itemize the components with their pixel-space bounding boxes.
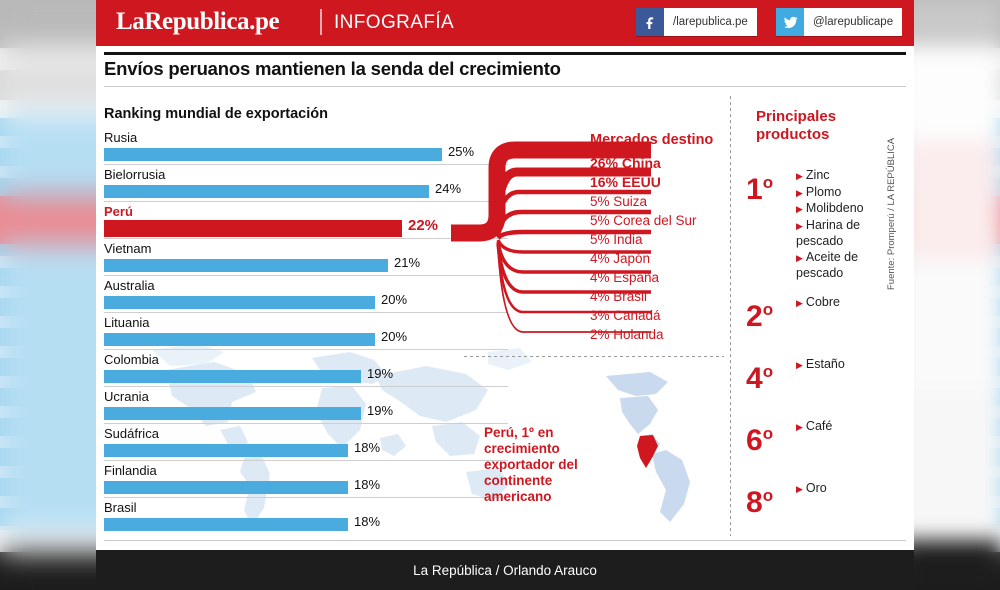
site-header: LaRepublica.pe INFOGRAFÍA /larepublica.p… xyxy=(96,0,914,46)
product-rank: 8o xyxy=(746,481,773,518)
rank-ordinal: o xyxy=(763,424,773,443)
ranking-value: 18% xyxy=(354,477,380,492)
country-label: Vietnam xyxy=(104,241,151,256)
product-label: Estaño xyxy=(806,357,845,371)
market-item: 26% China xyxy=(590,154,820,173)
ranking-row: Finlandia18% xyxy=(96,463,516,500)
row-divider xyxy=(104,201,508,202)
row-divider xyxy=(104,238,508,239)
market-item: 3% Canadá xyxy=(590,306,820,325)
ranking-bar xyxy=(104,296,375,309)
country-label: Finlandia xyxy=(104,463,157,478)
ranking-value: 21% xyxy=(394,255,420,270)
bullet-arrow-icon: ▶ xyxy=(796,221,803,231)
ranking-bar xyxy=(104,259,388,272)
product-rank: 2o xyxy=(746,295,773,332)
americas-map xyxy=(596,372,726,527)
page-title: Envíos peruanos mantienen la senda del c… xyxy=(104,58,784,80)
ranking-heading: Ranking mundial de exportación xyxy=(104,106,328,122)
vertical-dotted-divider xyxy=(730,96,731,536)
product-item: ▶Estaño xyxy=(796,357,901,374)
country-label: Sudáfrica xyxy=(104,426,159,441)
bullet-arrow-icon: ▶ xyxy=(796,253,803,263)
row-divider xyxy=(104,164,508,165)
bullet-arrow-icon: ▶ xyxy=(796,360,803,370)
row-divider xyxy=(104,312,508,313)
rank-number: 4 xyxy=(746,362,763,395)
bullet-arrow-icon: ▶ xyxy=(796,188,803,198)
product-label: Cobre xyxy=(806,295,840,309)
row-divider xyxy=(104,349,508,350)
footer-credit: La República / Orlando Arauco xyxy=(96,550,914,590)
twitter-icon xyxy=(776,8,804,36)
rank-number: 1 xyxy=(746,173,763,206)
markets-list: 26% China16% EEUU5% Suiza5% Corea del Su… xyxy=(590,154,820,344)
facebook-button[interactable]: /larepublica.pe xyxy=(636,8,757,36)
product-items: ▶Estaño xyxy=(796,357,901,374)
ranking-value: 18% xyxy=(354,440,380,455)
bullet-arrow-icon: ▶ xyxy=(796,204,803,214)
product-rank: 6o xyxy=(746,419,773,456)
row-divider xyxy=(104,497,508,498)
bullet-arrow-icon: ▶ xyxy=(796,484,803,494)
bullet-arrow-icon: ▶ xyxy=(796,298,803,308)
row-divider xyxy=(104,386,508,387)
bullet-arrow-icon: ▶ xyxy=(796,422,803,432)
ranking-bar xyxy=(104,333,375,346)
product-items: ▶Oro xyxy=(796,481,901,498)
ranking-bar xyxy=(104,185,429,198)
country-label: Lituania xyxy=(104,315,150,330)
twitter-handle: @larepublicape xyxy=(804,8,902,36)
ranking-bar xyxy=(104,407,361,420)
product-label: Plomo xyxy=(806,185,841,199)
row-divider xyxy=(104,460,508,461)
ranking-value: 20% xyxy=(381,329,407,344)
product-rank: 4o xyxy=(746,357,773,394)
section-label: INFOGRAFÍA xyxy=(334,12,454,34)
ranking-value: 18% xyxy=(354,514,380,529)
map-caption: Perú, 1º en crecimiento exportador del c… xyxy=(484,425,594,505)
country-label: Brasil xyxy=(104,500,137,515)
row-divider xyxy=(104,275,508,276)
ranking-value: 19% xyxy=(367,366,393,381)
product-items: ▶Cobre xyxy=(796,295,901,312)
market-item: 5% Corea del Sur xyxy=(590,211,820,230)
product-item: ▶Cobre xyxy=(796,295,901,312)
facebook-icon xyxy=(636,8,664,36)
market-item: 4% España xyxy=(590,268,820,287)
product-item: ▶Café xyxy=(796,419,901,436)
product-label: Zinc xyxy=(806,168,830,182)
country-label: Rusia xyxy=(104,130,137,145)
rank-ordinal: o xyxy=(763,486,773,505)
country-label: Colombia xyxy=(104,352,159,367)
ranking-bar xyxy=(104,444,348,457)
product-label: Oro xyxy=(806,481,827,495)
product-items: ▶Café xyxy=(796,419,901,436)
footer-rule xyxy=(104,540,906,541)
header-divider xyxy=(320,9,322,35)
product-label: Café xyxy=(806,419,832,433)
ranking-row: Ucrania19% xyxy=(96,389,516,426)
market-item: 4% Japón xyxy=(590,249,820,268)
ranking-bar xyxy=(104,370,361,383)
horizontal-dotted-divider xyxy=(464,356,724,357)
product-label: Molibdeno xyxy=(806,201,864,215)
ranking-bar xyxy=(104,518,348,531)
market-item: 5% India xyxy=(590,230,820,249)
rank-ordinal: o xyxy=(763,173,773,192)
ranking-bar xyxy=(104,220,402,237)
source-note: Fuente: Promperú / LA REPÚBLICA xyxy=(886,138,897,290)
title-rule-top xyxy=(104,52,906,55)
product-label: Harina de pescado xyxy=(796,218,860,249)
market-item: 16% EEUU xyxy=(590,173,820,192)
markets-heading: Mercados destino xyxy=(590,132,713,148)
rank-number: 2 xyxy=(746,300,763,333)
ranking-bar xyxy=(104,481,348,494)
product-label: Aceite de pescado xyxy=(796,250,858,281)
rank-ordinal: o xyxy=(763,362,773,381)
ranking-value: 19% xyxy=(367,403,393,418)
bullet-arrow-icon: ▶ xyxy=(796,171,803,181)
country-label: Bielorrusia xyxy=(104,167,165,182)
title-rule-bottom xyxy=(104,86,906,87)
backdrop-right-blur xyxy=(900,0,1000,590)
market-item: 2% Holanda xyxy=(590,325,820,344)
brand-logo[interactable]: LaRepublica.pe xyxy=(116,8,279,36)
ranking-row: Brasil18% xyxy=(96,500,516,537)
infographic-card: LaRepublica.pe INFOGRAFÍA /larepublica.p… xyxy=(96,0,914,590)
rank-number: 6 xyxy=(746,424,763,457)
facebook-handle: /larepublica.pe xyxy=(664,8,757,36)
twitter-button[interactable]: @larepublicape xyxy=(776,8,902,36)
rank-number: 8 xyxy=(746,486,763,519)
ranking-row: Sudáfrica18% xyxy=(96,426,516,463)
country-label: Perú xyxy=(104,204,133,219)
ranking-value: 22% xyxy=(408,217,438,234)
ranking-value: 20% xyxy=(381,292,407,307)
row-divider xyxy=(104,423,508,424)
country-label: Ucrania xyxy=(104,389,149,404)
rank-ordinal: o xyxy=(763,300,773,319)
market-item: 5% Suiza xyxy=(590,192,820,211)
ranking-bar xyxy=(104,148,442,161)
market-item: 4% Brasil xyxy=(590,287,820,306)
country-label: Australia xyxy=(104,278,155,293)
product-rank: 1o xyxy=(746,168,773,205)
product-item: ▶Oro xyxy=(796,481,901,498)
products-heading: Principales productos xyxy=(756,108,876,144)
